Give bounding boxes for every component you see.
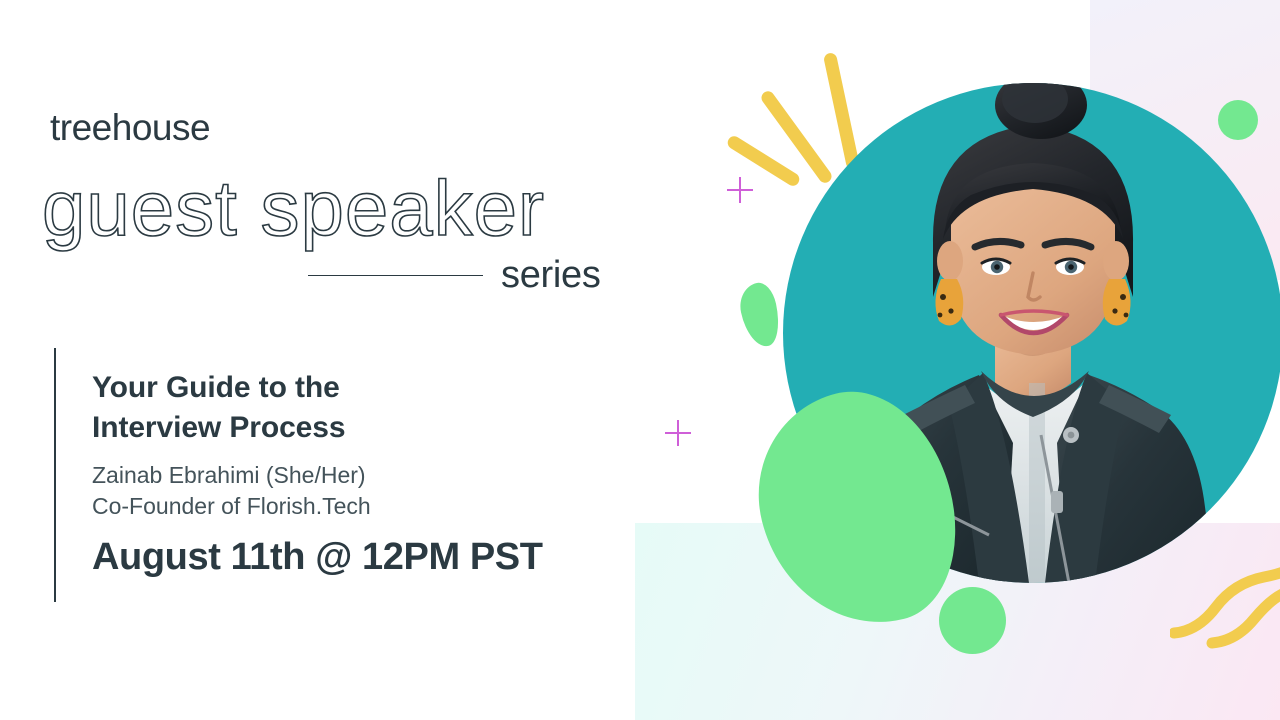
slide-canvas: treehouse guest speaker series Your Guid… (0, 0, 1280, 720)
headline-guest-speaker: guest speaker (42, 163, 545, 254)
talk-title: Your Guide to the Interview Process (92, 368, 632, 447)
green-circle-bottom (939, 587, 1006, 654)
vertical-accent-bar (54, 348, 56, 602)
talk-title-line-2: Interview Process (92, 411, 345, 444)
green-dot-top-right (1218, 100, 1258, 140)
series-divider-rule (308, 275, 483, 277)
speaker-role: Co-Founder of Florish.Tech (92, 491, 632, 522)
green-blob-small-top (736, 280, 785, 350)
series-row: series (308, 254, 624, 297)
talk-title-line-1: Your Guide to the (92, 371, 340, 404)
speaker-name: Zainab Ebrahimi (She/Her) (92, 460, 632, 491)
event-date-time: August 11th @ 12PM PST (92, 536, 632, 579)
text-column: treehouse guest speaker series Your Guid… (0, 0, 660, 720)
event-info-block: Your Guide to the Interview Process Zain… (92, 368, 632, 579)
yellow-wave-group (1170, 565, 1280, 675)
plus-mark-2-icon (665, 420, 691, 446)
plus-mark-1-icon (727, 177, 753, 203)
brand-name: treehouse (50, 107, 210, 149)
series-label: series (501, 254, 601, 297)
